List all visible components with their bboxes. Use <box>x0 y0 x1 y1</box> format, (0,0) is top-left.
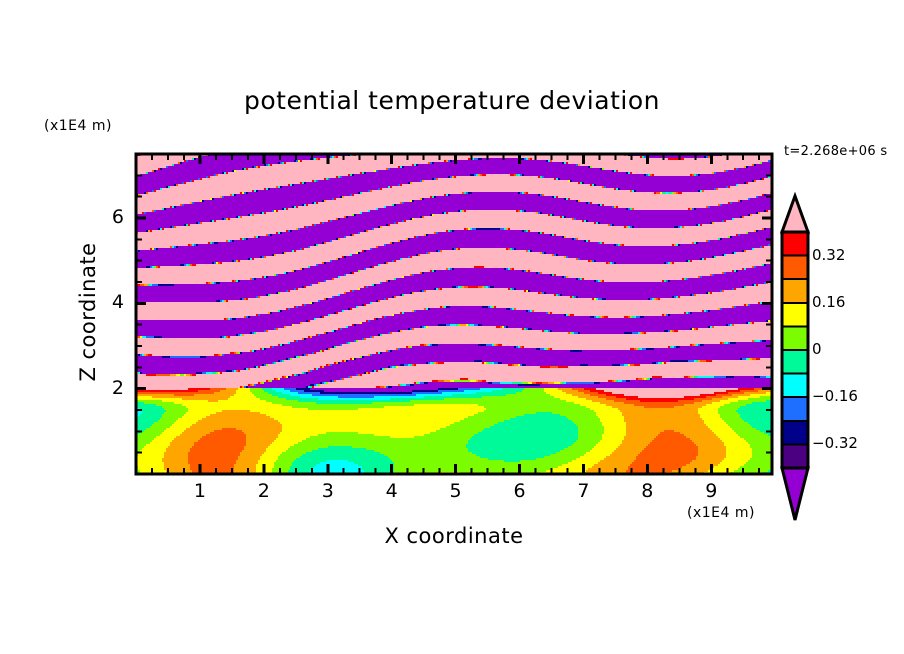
colorbar-band <box>782 397 808 421</box>
x-tick-label: 5 <box>441 480 471 502</box>
contour-plot <box>0 0 904 654</box>
x-tick-label: 8 <box>632 480 662 502</box>
x-tick-label: 3 <box>313 480 343 502</box>
x-tick-label: 6 <box>505 480 535 502</box>
x-tick-label: 9 <box>696 480 726 502</box>
colorbar-band <box>782 350 808 374</box>
colorbar-band <box>782 232 808 256</box>
colorbar-band <box>782 256 808 280</box>
colorbar-over-arrow <box>782 196 808 232</box>
y-tick-label: 6 <box>94 206 124 228</box>
contour-field <box>136 154 772 474</box>
x-tick-label: 4 <box>377 480 407 502</box>
colorbar <box>782 196 808 520</box>
colorbar-tick-label: −0.16 <box>812 387 858 405</box>
x-tick-label: 1 <box>185 480 215 502</box>
y-tick-label: 2 <box>94 377 124 399</box>
y-tick-label: 4 <box>94 291 124 313</box>
colorbar-tick-label: 0.32 <box>812 246 845 264</box>
colorbar-band <box>782 279 808 303</box>
colorbar-band <box>782 444 808 468</box>
colorbar-band <box>782 303 808 327</box>
colorbar-tick-label: 0 <box>812 340 822 358</box>
colorbar-tick-label: −0.32 <box>812 434 858 452</box>
colorbar-band <box>782 421 808 445</box>
figure-canvas: potential temperature deviation (x1E4 m)… <box>0 0 904 654</box>
colorbar-tick-label: 0.16 <box>812 293 845 311</box>
colorbar-under-arrow <box>782 468 808 520</box>
x-tick-label: 2 <box>249 480 279 502</box>
colorbar-band <box>782 374 808 398</box>
colorbar-band <box>782 326 808 350</box>
x-tick-label: 7 <box>568 480 598 502</box>
